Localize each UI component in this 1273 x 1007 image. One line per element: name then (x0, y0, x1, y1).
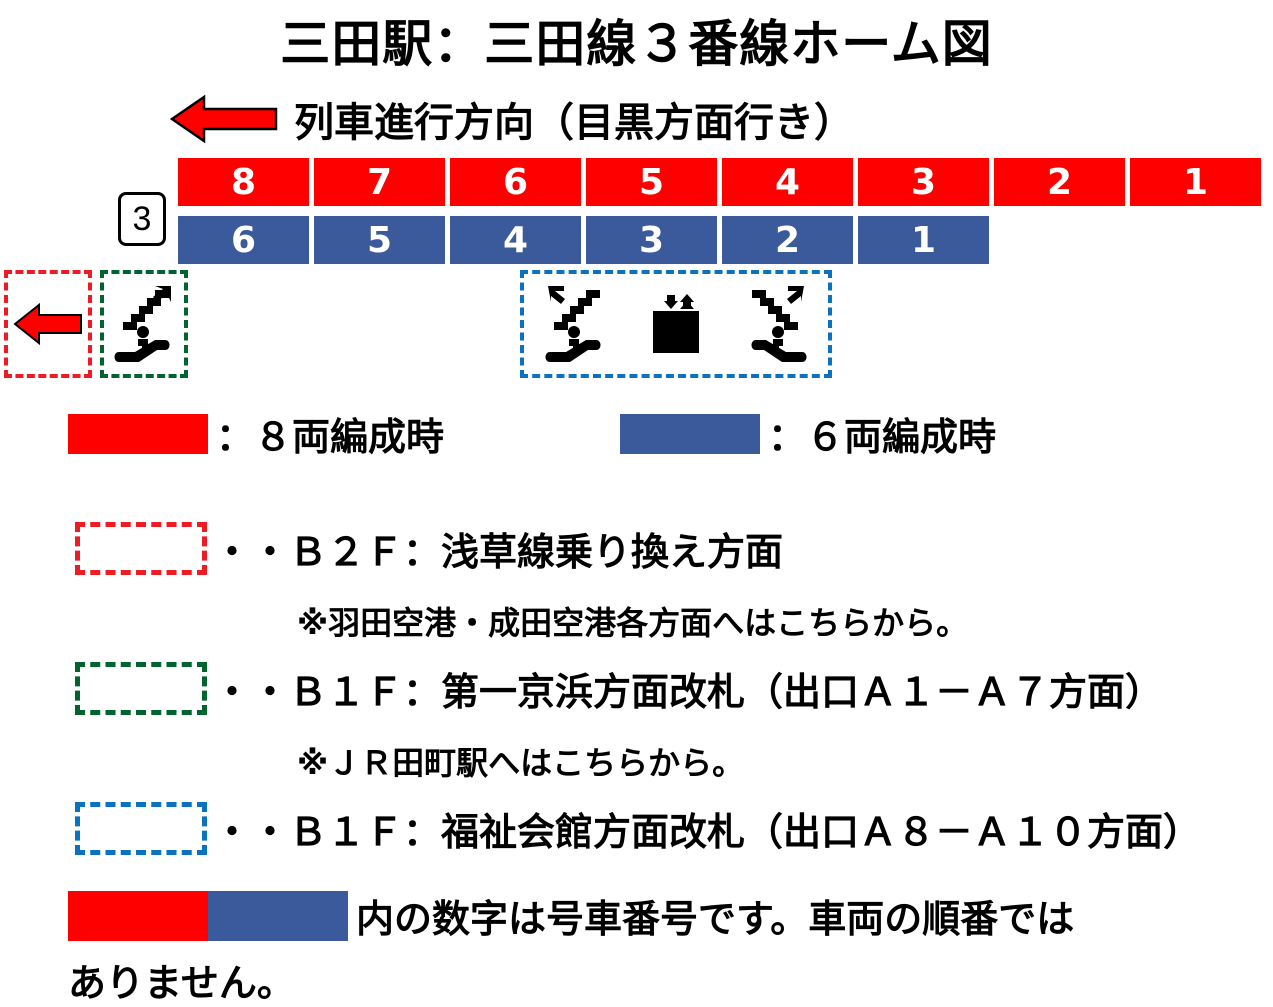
footer-text-2: ありません。 (68, 952, 295, 1007)
escalator-icon (544, 282, 606, 366)
car-cell: 2 (722, 216, 853, 264)
car-cell: 2 (994, 158, 1125, 206)
car-cell: 1 (858, 216, 989, 264)
train-direction-label: 列車進行方向（目黒方面行き） (294, 90, 854, 148)
exit-swatch-blue-dashed (75, 802, 207, 855)
car-cell: 5 (586, 158, 717, 206)
car-cell: 6 (450, 158, 581, 206)
footer-text-1: 内の数字は号車番号です。車両の順番では (356, 888, 1074, 943)
facility-box-b1f-fukushi-kaikan (520, 270, 832, 378)
elevator-icon (645, 293, 707, 355)
left-arrow-icon (13, 301, 83, 347)
facility-box-b1f-daiichi-keihin (100, 270, 188, 378)
left-arrow-icon (170, 93, 278, 145)
escalator-icon-mirrored (746, 282, 808, 366)
exit-legend-row-b1f-a: ・・Ｂ１Ｆ：第一京浜方面改札（出口Ａ１－Ａ７方面） (75, 661, 1163, 716)
train-direction-row: 列車進行方向（目黒方面行き） (170, 90, 854, 148)
exit-swatch-green-dashed (75, 662, 207, 715)
car-cell: 3 (858, 158, 989, 206)
exit-label-b1f-b: ・・Ｂ１Ｆ：福祉会館方面改札（出口Ａ８－Ａ１０方面） (213, 801, 1201, 856)
car-cell: 5 (314, 216, 445, 264)
legend-swatch-blue (620, 414, 760, 454)
page-title: 三田駅：三田線３番線ホーム図 (0, 4, 1273, 76)
escalator-icon (113, 282, 175, 366)
exit-note-b1f-a: ※ＪＲ田町駅へはこちらから。 (297, 738, 744, 784)
footer-note-line-1: 内の数字は号車番号です。車両の順番では (68, 888, 1074, 943)
legend-item-eight-car: ：８両編成時 (68, 406, 444, 461)
exit-note-b2f: ※羽田空港・成田空港各方面へはこちらから。 (297, 598, 968, 644)
legend-label-eight-car: ：８両編成時 (216, 406, 444, 461)
legend-swatch-red (68, 414, 208, 454)
legend-label-six-car: ：６両編成時 (768, 406, 996, 461)
footer-swatch-red (68, 891, 208, 941)
six-car-formation-row: 6 5 4 3 2 1 (178, 216, 989, 264)
legend-item-six-car: ：６両編成時 (620, 406, 996, 461)
car-cell: 7 (314, 158, 445, 206)
exit-label-b1f-a: ・・Ｂ１Ｆ：第一京浜方面改札（出口Ａ１－Ａ７方面） (213, 661, 1163, 716)
facility-box-b2f-asakusa (4, 270, 92, 378)
footer-swatch-blue (208, 891, 348, 941)
car-cell: 3 (586, 216, 717, 264)
platform-number-badge: 3 (118, 192, 166, 246)
car-cell: 1 (1130, 158, 1261, 206)
car-cell: 8 (178, 158, 309, 206)
exit-legend-row-b2f: ・・Ｂ２Ｆ：浅草線乗り換え方面 (75, 521, 783, 576)
car-cell: 4 (450, 216, 581, 264)
exit-swatch-red-dashed (75, 522, 207, 575)
car-cell: 4 (722, 158, 853, 206)
car-cell: 6 (178, 216, 309, 264)
exit-label-b2f: ・・Ｂ２Ｆ：浅草線乗り換え方面 (213, 521, 783, 576)
eight-car-formation-row: 8 7 6 5 4 3 2 1 (178, 158, 1261, 206)
exit-legend-row-b1f-b: ・・Ｂ１Ｆ：福祉会館方面改札（出口Ａ８－Ａ１０方面） (75, 801, 1201, 856)
